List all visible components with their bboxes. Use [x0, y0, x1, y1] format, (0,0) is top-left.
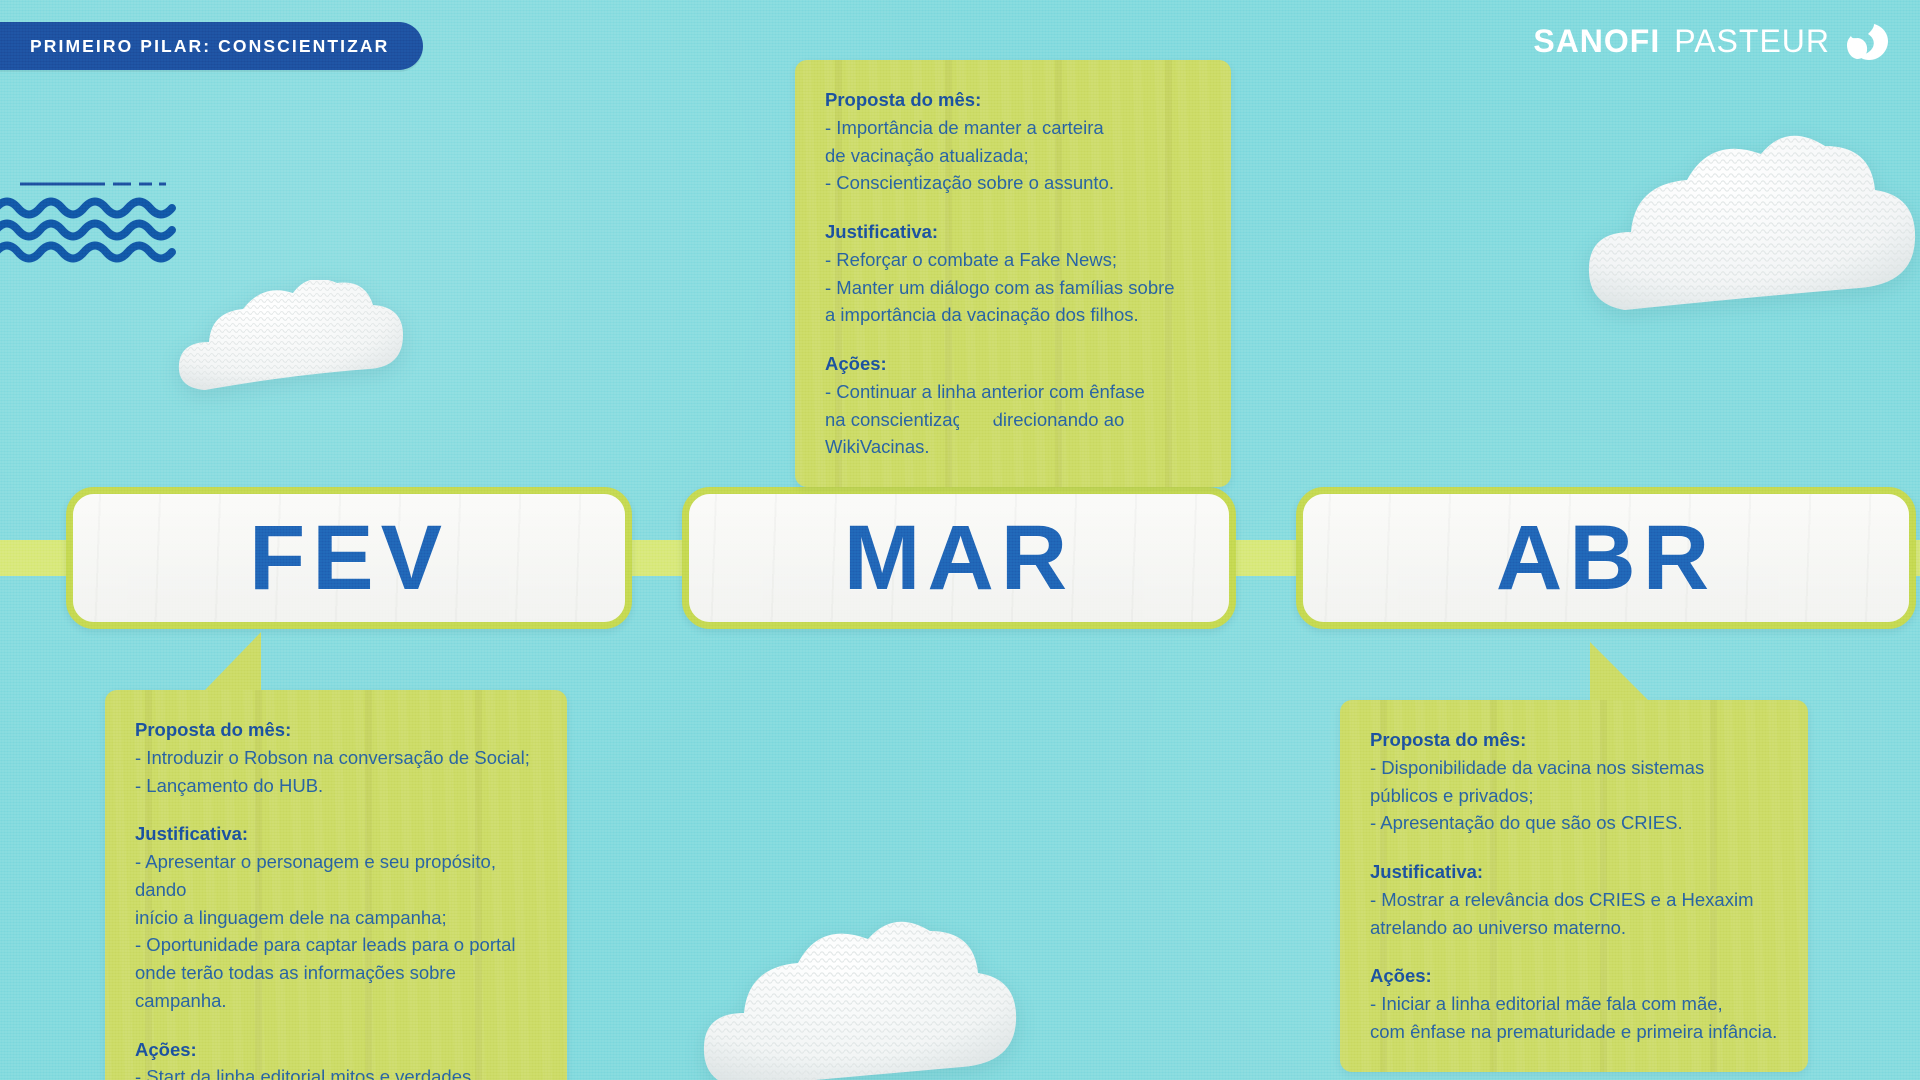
bubble-mar-justificativa-title: Justificativa:	[825, 218, 1201, 246]
cloud-bottom-center	[700, 915, 1030, 1080]
spacer	[135, 799, 537, 820]
bubble-abr-justificativa-title: Justificativa:	[1370, 858, 1778, 886]
wave-lines	[0, 176, 200, 266]
cloud-top-right	[1585, 130, 1920, 345]
bubble-fev-tail	[205, 632, 261, 690]
spacer	[825, 197, 1201, 218]
bubble-abr-justificativa-text: - Mostrar a relevância dos CRIES e a Hex…	[1370, 886, 1778, 942]
brand-name-sanofi: SANOFI	[1533, 23, 1660, 60]
bubble-abr-proposta-text: - Disponibilidade da vacina nos sistemas…	[1370, 754, 1778, 837]
bubble-mar-justificativa-text: - Reforçar o combate a Fake News; - Mant…	[825, 246, 1201, 329]
spacer	[1370, 837, 1778, 858]
bubble-abr-tail	[1590, 642, 1648, 700]
bubble-mar-proposta-text: - Importância de manter a carteira de va…	[825, 114, 1201, 197]
bubble-fev-justificativa-title: Justificativa:	[135, 820, 537, 848]
month-box-abr[interactable]: ABR	[1296, 487, 1916, 629]
month-box-mar[interactable]: MAR	[682, 487, 1236, 629]
poster-canvas: PRIMEIRO PILAR: CONSCIENTIZAR SANOFI PAS…	[0, 0, 1920, 1080]
month-label-mar: MAR	[844, 506, 1075, 611]
sanofi-bird-logo-icon	[1844, 18, 1890, 64]
month-box-fev[interactable]: FEV	[66, 487, 632, 629]
bubble-fev-acoes-text: - Start da linha editorial mitos e verda…	[135, 1063, 537, 1080]
bubble-fev: Proposta do mês: - Introduzir o Robson n…	[105, 690, 567, 1080]
bubble-mar-tail	[959, 398, 1015, 456]
spacer	[1370, 941, 1778, 962]
brand-logo: SANOFI PASTEUR	[1533, 18, 1890, 64]
bubble-fev-acoes-title: Ações:	[135, 1036, 537, 1064]
month-label-abr: ABR	[1496, 506, 1716, 611]
cloud-left	[175, 280, 440, 415]
pillar-title-banner: PRIMEIRO PILAR: CONSCIENTIZAR	[0, 22, 423, 70]
brand-name-pasteur: PASTEUR	[1674, 23, 1830, 60]
spacer	[135, 1015, 537, 1036]
bubble-fev-proposta-text: - Introduzir o Robson na conversação de …	[135, 744, 537, 800]
bubble-abr-acoes-title: Ações:	[1370, 962, 1778, 990]
bubble-fev-proposta-title: Proposta do mês:	[135, 716, 537, 744]
bubble-mar-acoes-title: Ações:	[825, 350, 1201, 378]
page-title: PRIMEIRO PILAR: CONSCIENTIZAR	[30, 36, 389, 57]
bubble-abr: Proposta do mês: - Disponibilidade da va…	[1340, 700, 1808, 1072]
bubble-abr-proposta-title: Proposta do mês:	[1370, 726, 1778, 754]
month-label-fev: FEV	[249, 506, 449, 611]
spacer	[825, 329, 1201, 350]
bubble-fev-justificativa-text: - Apresentar o personagem e seu propósit…	[135, 848, 537, 1015]
bubble-mar-proposta-title: Proposta do mês:	[825, 86, 1201, 114]
bubble-abr-acoes-text: - Iniciar a linha editorial mãe fala com…	[1370, 990, 1778, 1046]
